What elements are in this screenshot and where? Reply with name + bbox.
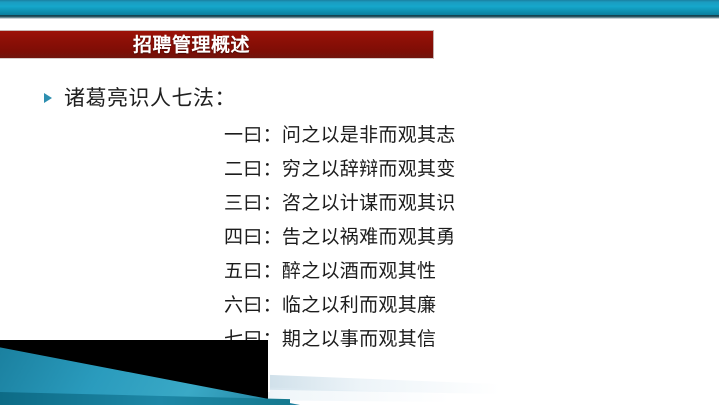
list-item: 三曰：咨之以计谋而观其识 [224, 186, 694, 220]
triangle-right-bullet-icon [44, 93, 52, 103]
list-item: 五曰：醉之以酒而观其性 [224, 254, 694, 288]
list-item: 四曰：告之以祸难而观其勇 [224, 220, 694, 254]
slide-canvas: 招聘管理概述 诸葛亮识人七法： 一曰：问之以是非而观其志 二曰：穷之以辞辩而观其… [0, 0, 719, 405]
list-item: 七曰：期之以事而观其信 [224, 322, 694, 356]
list-item: 六曰：临之以利而观其廉 [224, 288, 694, 322]
section-heading-label: 诸葛亮识人七法： [64, 82, 236, 112]
list-item: 二曰：穷之以辞辩而观其变 [224, 152, 694, 186]
maxim-list: 一曰：问之以是非而观其志 二曰：穷之以辞辩而观其变 三曰：咨之以计谋而观其识 四… [224, 118, 694, 356]
list-item: 一曰：问之以是非而观其志 [224, 118, 694, 152]
bottom-band-edge-highlight [268, 340, 270, 392]
page-title: 招聘管理概述 [133, 31, 250, 59]
section-heading: 诸葛亮识人七法： [44, 82, 236, 112]
top-accent-bar-shadow [0, 15, 719, 19]
top-accent-bar [0, 0, 719, 15]
